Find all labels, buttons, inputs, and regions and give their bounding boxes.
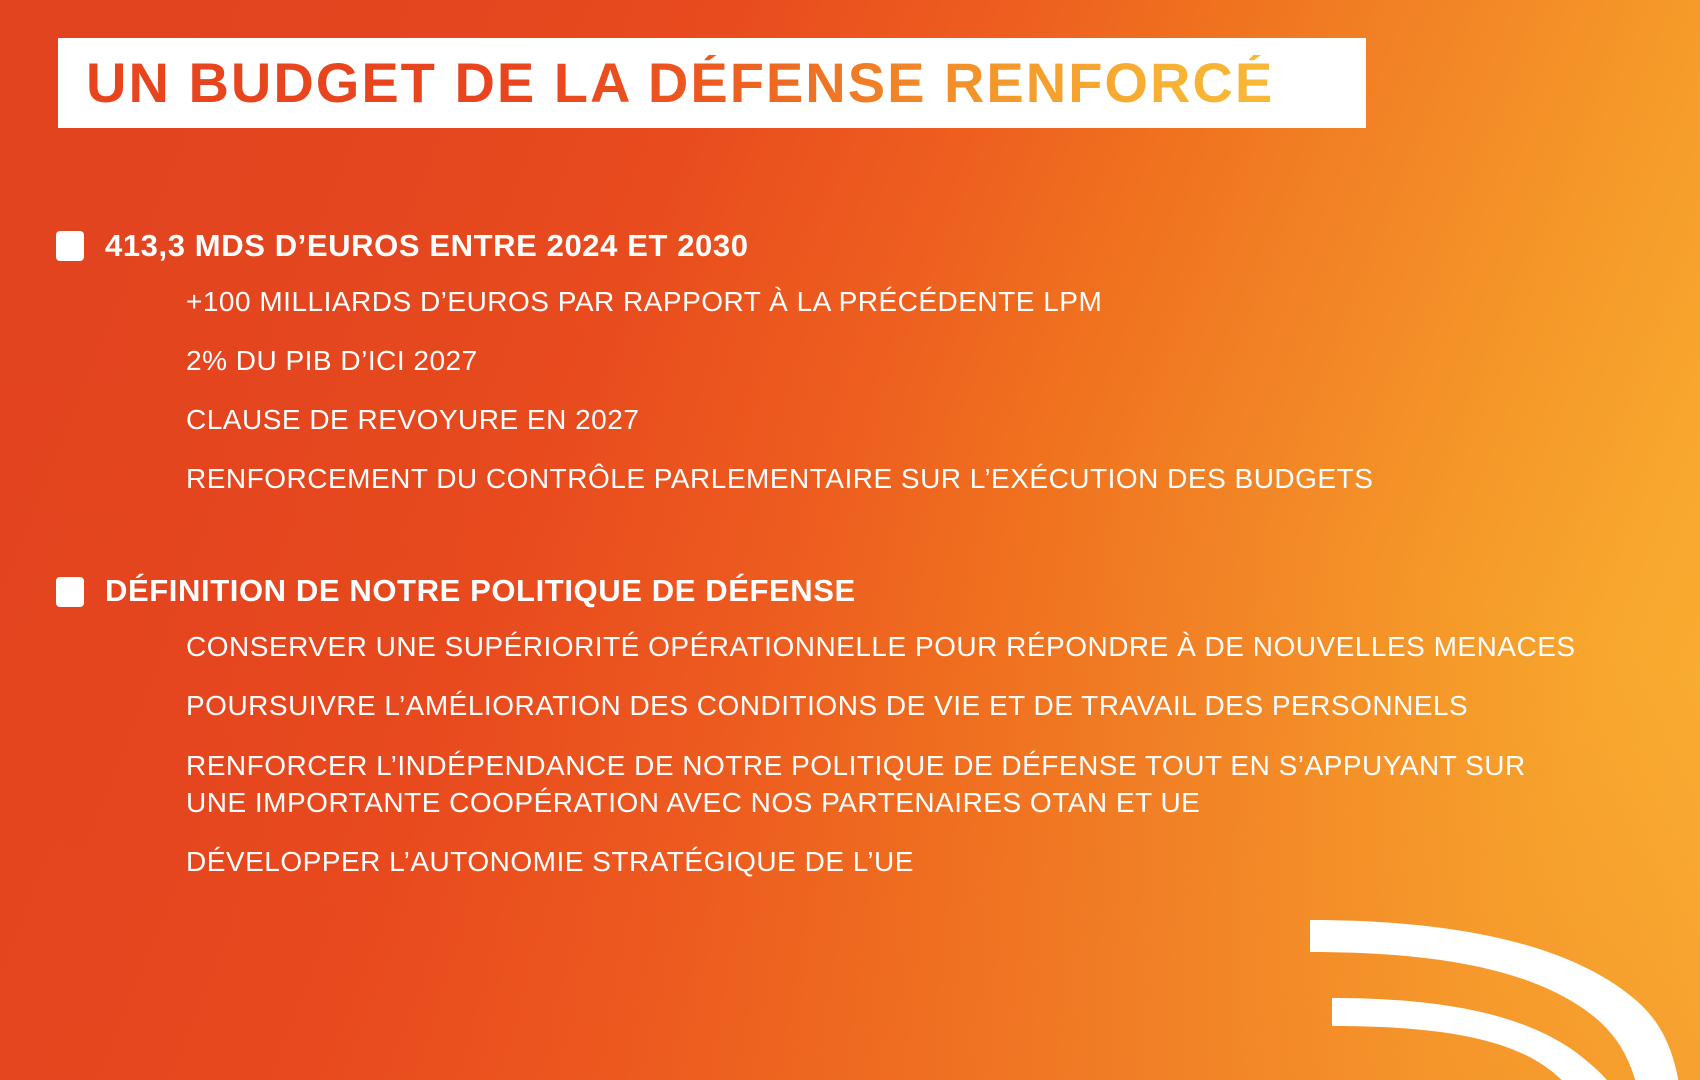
section-budget: 413,3 MDS D’EUROS ENTRE 2024 ET 2030 +10… xyxy=(0,230,1700,497)
title-band: UN BUDGET DE LA DÉFENSE RENFORCÉ xyxy=(58,38,1366,128)
swoosh-curve-graphic xyxy=(1270,890,1700,1080)
list-item: CONSERVER UNE SUPÉRIORITÉ OPÉRATIONNELLE… xyxy=(186,628,1576,665)
filled-square-bullet-icon xyxy=(56,577,84,607)
list-item: RENFORCER L’INDÉPENDANCE DE NOTRE POLITI… xyxy=(186,747,1576,821)
list-item: RENFORCEMENT DU CONTRÔLE PARLEMENTAIRE S… xyxy=(186,460,1576,497)
section-header: DÉFINITION DE NOTRE POLITIQUE DE DÉFENSE xyxy=(0,575,1700,608)
section-heading-text: DÉFINITION DE NOTRE POLITIQUE DE DÉFENSE xyxy=(105,575,856,608)
list-item: POURSUIVRE L’AMÉLIORATION DES CONDITIONS… xyxy=(186,687,1576,724)
filled-square-bullet-icon xyxy=(56,231,84,261)
list-item: DÉVELOPPER L’AUTONOMIE STRATÉGIQUE DE L’… xyxy=(186,843,1576,880)
content-area: 413,3 MDS D’EUROS ENTRE 2024 ET 2030 +10… xyxy=(0,230,1700,880)
page-title: UN BUDGET DE LA DÉFENSE RENFORCÉ xyxy=(86,55,1274,111)
list-item: +100 MILLIARDS D’EUROS PAR RAPPORT À LA … xyxy=(186,283,1576,320)
list-item: CLAUSE DE REVOYURE EN 2027 xyxy=(186,401,1576,438)
section-item-list: CONSERVER UNE SUPÉRIORITÉ OPÉRATIONNELLE… xyxy=(0,628,1700,880)
section-header: 413,3 MDS D’EUROS ENTRE 2024 ET 2030 xyxy=(0,230,1700,263)
section-item-list: +100 MILLIARDS D’EUROS PAR RAPPORT À LA … xyxy=(0,283,1700,498)
section-heading-text: 413,3 MDS D’EUROS ENTRE 2024 ET 2030 xyxy=(105,230,749,263)
slide-canvas: UN BUDGET DE LA DÉFENSE RENFORCÉ 413,3 M… xyxy=(0,0,1700,1080)
section-politique-defense: DÉFINITION DE NOTRE POLITIQUE DE DÉFENSE… xyxy=(0,575,1700,880)
list-item: 2% DU PIB D’ICI 2027 xyxy=(186,342,1576,379)
